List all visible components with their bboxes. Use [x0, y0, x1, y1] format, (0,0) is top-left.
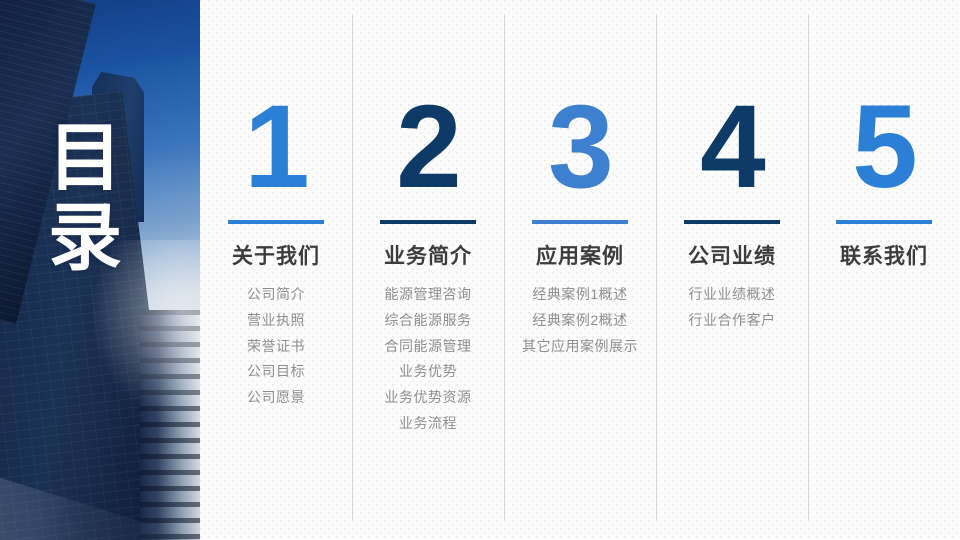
agenda-column-5[interactable]: 5 联系我们 — [808, 0, 960, 540]
agenda-column-4[interactable]: 4 公司业绩 行业业绩概述 行业合作客户 — [656, 0, 808, 540]
list-item[interactable]: 业务优势 — [399, 363, 457, 380]
agenda-title-5: 联系我们 — [840, 240, 928, 270]
page-title: 目 录 — [48, 118, 168, 278]
list-item[interactable]: 行业业绩概述 — [689, 286, 776, 303]
agenda-title-4: 公司业绩 — [688, 240, 776, 270]
presentation-slide: 目 录 1 关于我们 公司简介 营业执照 荣誉证书 公司目标 公司愿景 2 业务… — [0, 0, 960, 540]
list-item[interactable]: 其它应用案例展示 — [522, 338, 638, 355]
agenda-columns: 1 关于我们 公司简介 营业执照 荣誉证书 公司目标 公司愿景 2 业务简介 能… — [200, 0, 960, 540]
list-item[interactable]: 业务优势资源 — [385, 389, 472, 406]
agenda-column-2[interactable]: 2 业务简介 能源管理咨询 综合能源服务 合同能源管理 业务优势 业务优势资源 … — [352, 0, 504, 540]
list-item[interactable]: 公司愿景 — [247, 389, 305, 406]
agenda-number-5: 5 — [852, 88, 916, 206]
agenda-items-2: 能源管理咨询 综合能源服务 合同能源管理 业务优势 业务优势资源 业务流程 — [385, 286, 472, 432]
agenda-rule-3 — [532, 220, 628, 224]
agenda-items-4: 行业业绩概述 行业合作客户 — [689, 286, 776, 329]
agenda-rule-5 — [836, 220, 932, 224]
list-item[interactable]: 能源管理咨询 — [385, 286, 472, 303]
agenda-number-3: 3 — [548, 88, 612, 206]
list-item[interactable]: 合同能源管理 — [385, 338, 472, 355]
agenda-number-4: 4 — [700, 88, 764, 206]
list-item[interactable]: 业务流程 — [399, 415, 457, 432]
list-item[interactable]: 公司简介 — [247, 286, 305, 303]
list-item[interactable]: 综合能源服务 — [385, 312, 472, 329]
city-skyscraper-photo: 目 录 — [0, 0, 200, 540]
list-item[interactable]: 行业合作客户 — [689, 312, 776, 329]
agenda-title-1: 关于我们 — [232, 240, 320, 270]
agenda-title-2: 业务简介 — [384, 240, 472, 270]
agenda-items-3: 经典案例1概述 经典案例2概述 其它应用案例展示 — [522, 286, 638, 354]
list-item[interactable]: 公司目标 — [247, 363, 305, 380]
agenda-items-1: 公司简介 营业执照 荣誉证书 公司目标 公司愿景 — [247, 286, 305, 406]
list-item[interactable]: 荣誉证书 — [247, 338, 305, 355]
agenda-rule-2 — [380, 220, 476, 224]
list-item[interactable]: 经典案例1概述 — [532, 286, 627, 303]
agenda-rule-1 — [228, 220, 324, 224]
agenda-number-2: 2 — [396, 88, 460, 206]
agenda-number-1: 1 — [244, 88, 308, 206]
list-item[interactable]: 营业执照 — [247, 312, 305, 329]
agenda-title-3: 应用案例 — [536, 240, 624, 270]
agenda-column-1[interactable]: 1 关于我们 公司简介 营业执照 荣誉证书 公司目标 公司愿景 — [200, 0, 352, 540]
agenda-column-3[interactable]: 3 应用案例 经典案例1概述 经典案例2概述 其它应用案例展示 — [504, 0, 656, 540]
agenda-rule-4 — [684, 220, 780, 224]
list-item[interactable]: 经典案例2概述 — [532, 312, 627, 329]
